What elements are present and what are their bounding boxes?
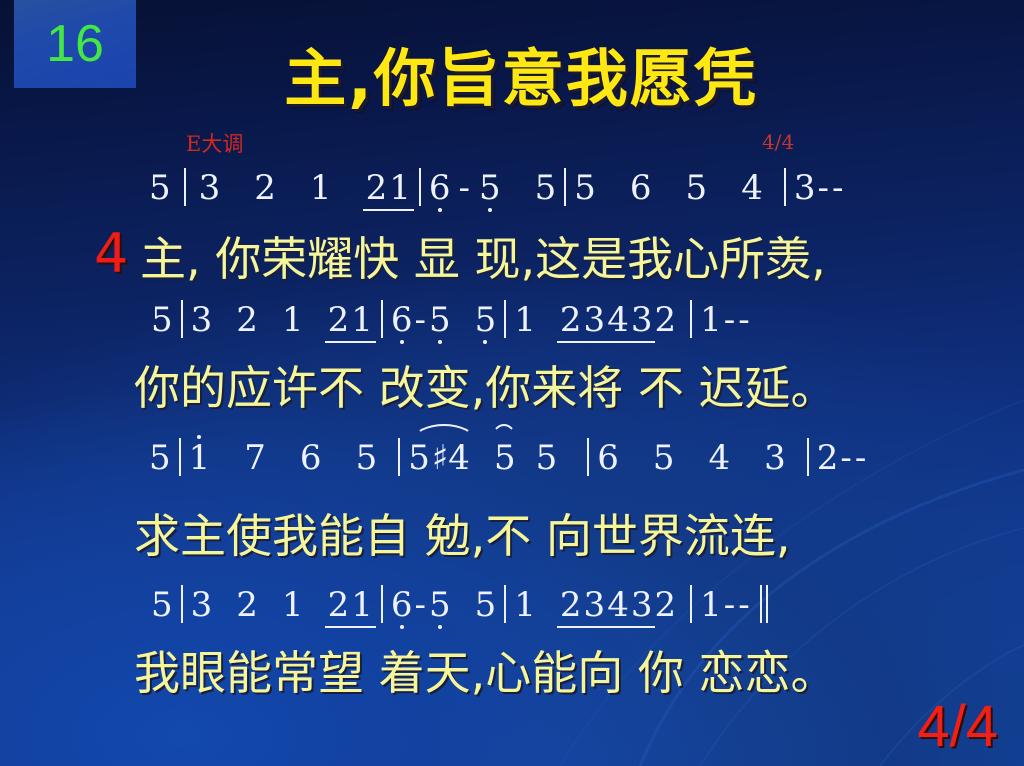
note: 5	[493, 438, 517, 478]
note-low-octave: 6	[390, 585, 414, 625]
beam-group: 23	[559, 585, 606, 625]
sustain-dash: -	[839, 438, 854, 478]
barline	[381, 300, 383, 338]
note: 5	[407, 438, 431, 478]
note: 5	[573, 168, 597, 208]
barline	[398, 438, 400, 476]
beam-group: 43	[606, 300, 653, 340]
note: 2	[816, 438, 840, 478]
beam-group: 21	[365, 168, 412, 208]
note: 2	[327, 300, 351, 340]
note: 2	[327, 585, 351, 625]
note: 2	[653, 300, 677, 340]
note: 3	[190, 300, 214, 340]
barline	[381, 585, 383, 623]
sustain-dash: -	[816, 168, 831, 208]
slide-canvas: 16 主,你旨意我愿凭 E大调 4/4 4 5321216-5556543-- …	[0, 0, 1024, 766]
note: 5	[150, 585, 174, 625]
note: 1	[281, 300, 305, 340]
barline	[504, 300, 506, 338]
sustain-dash: -	[457, 168, 472, 208]
note-low-octave: 6	[390, 300, 414, 340]
note: 3	[198, 168, 222, 208]
barline	[504, 585, 506, 623]
lyric-line-3: 求主使我能自 勉,不 向世界流连,	[0, 500, 1024, 566]
note: 2	[653, 585, 677, 625]
sustain-dash: -	[737, 585, 752, 625]
note: 5	[685, 168, 709, 208]
note-low-octave: 6	[428, 168, 452, 208]
note-low-octave: 5	[428, 585, 452, 625]
beam-group: 21	[327, 300, 374, 340]
barline	[419, 168, 421, 206]
note: 3	[630, 300, 654, 340]
sustain-dash: -	[854, 438, 869, 478]
lyric-text: 主, 你荣耀快 显 现,这是我心所羡,	[140, 223, 826, 289]
beam-group: 21	[327, 585, 374, 625]
note: 4	[606, 585, 630, 625]
note: 3	[793, 168, 817, 208]
note: 7	[243, 438, 267, 478]
note: 5	[355, 438, 379, 478]
notation-line-1: 5321216-5556543--	[0, 168, 1024, 208]
note-sharp: ♯4	[431, 438, 471, 478]
beam-group: 23	[559, 300, 606, 340]
sustain-dash: -	[413, 300, 428, 340]
notation-line-2: 5321216-551234321--	[0, 300, 1024, 340]
barline	[179, 438, 181, 476]
lyric-line-4: 我眼能常望 着天,心能向 你 恋恋。	[0, 637, 1024, 703]
note: 6	[596, 438, 620, 478]
note: 6	[629, 168, 653, 208]
double-barline	[760, 585, 772, 632]
note: 1	[513, 300, 537, 340]
lyric-line-1: 主, 你荣耀快 显 现,这是我心所羡,	[0, 223, 1024, 289]
sustain-dash: -	[723, 300, 738, 340]
note: 1	[699, 300, 723, 340]
note: 3	[763, 438, 787, 478]
note: 5	[148, 168, 172, 208]
note: 5	[535, 438, 559, 478]
note: 5	[534, 168, 558, 208]
note: 1	[281, 585, 305, 625]
note: 1	[699, 585, 723, 625]
lyric-text: 求主使我能自 勉,不 向世界流连,	[134, 500, 791, 566]
note: 1	[513, 585, 537, 625]
time-signature-top: 4/4	[762, 130, 794, 154]
note: 2	[235, 585, 259, 625]
note: 2	[559, 300, 583, 340]
note: 2	[235, 300, 259, 340]
note-low-octave: 5	[428, 300, 452, 340]
sustain-dash: -	[737, 300, 752, 340]
note: 5	[652, 438, 676, 478]
note-low-octave: 5	[478, 168, 502, 208]
beam-group: 43	[606, 585, 653, 625]
note: 1	[309, 168, 333, 208]
time-signature-bottom: 4/4	[917, 693, 998, 760]
note: 3	[583, 585, 607, 625]
note: 2	[365, 168, 389, 208]
note-low-octave: 5	[474, 300, 498, 340]
note: 5	[474, 585, 498, 625]
note: 4	[740, 168, 764, 208]
note: 3	[583, 300, 607, 340]
note: 4	[606, 300, 630, 340]
barline	[181, 585, 183, 623]
note: 5	[148, 438, 172, 478]
barline	[564, 168, 566, 206]
note: 3	[630, 585, 654, 625]
barline	[807, 438, 809, 476]
sustain-dash: -	[723, 585, 738, 625]
notation-line-4: 5321216-551234321--	[0, 585, 1024, 632]
note-high-octave: 1	[188, 438, 212, 478]
note: 1	[388, 168, 412, 208]
note: 3	[190, 585, 214, 625]
barline	[784, 168, 786, 206]
barline	[690, 585, 692, 623]
lyric-text: 我眼能常望 着天,心能向 你 恋恋。	[134, 637, 837, 703]
note: 4	[708, 438, 732, 478]
sustain-dash: -	[831, 168, 846, 208]
note: 6	[299, 438, 323, 478]
barline	[181, 300, 183, 338]
barline	[690, 300, 692, 338]
barline	[587, 438, 589, 476]
lyric-line-2: 你的应许不 改变,你来将 不 迟延。	[0, 352, 1024, 418]
page-title-text: 主,你旨意我愿凭	[266, 28, 758, 118]
key-signature-label: E大调	[186, 128, 243, 158]
barline	[184, 168, 186, 206]
lyric-text: 你的应许不 改变,你来将 不 迟延。	[134, 352, 837, 418]
slur-arc	[491, 424, 517, 440]
note: 1	[350, 300, 374, 340]
note: 2	[559, 585, 583, 625]
sustain-dash: -	[413, 585, 428, 625]
page-title: 主,你旨意我愿凭	[0, 28, 1024, 118]
notation-line-3: 517655♯45565432--	[0, 438, 1024, 478]
note: 1	[350, 585, 374, 625]
note: 2	[253, 168, 277, 208]
note: 5	[150, 300, 174, 340]
